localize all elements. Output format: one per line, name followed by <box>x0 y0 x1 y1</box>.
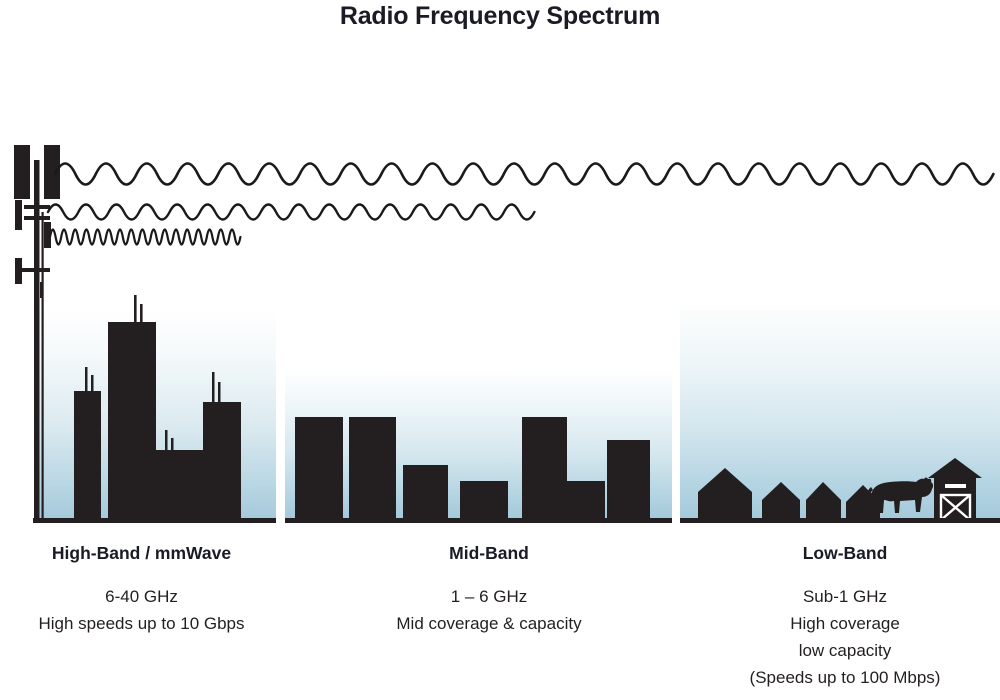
high-band-scene <box>33 295 276 523</box>
building-1 <box>74 391 101 520</box>
mid-building-6 <box>567 481 605 520</box>
antenna-panel-right <box>44 145 60 199</box>
mid-building-3 <box>403 465 448 520</box>
mid-building-2 <box>349 417 396 520</box>
building-spire <box>212 372 215 403</box>
band-column-high-band: High-Band / mmWave 6-40 GHz High speeds … <box>0 543 283 637</box>
band-title-high-band: High-Band / mmWave <box>0 543 283 564</box>
band-description-high-band: High speeds up to 10 Gbps <box>0 610 283 637</box>
building-spire <box>91 375 94 393</box>
building-4 <box>203 402 241 520</box>
antenna-panel-small <box>15 200 22 230</box>
mid-building-4 <box>460 481 508 520</box>
low-band-ground <box>680 518 1000 523</box>
low-band-scene <box>680 310 1000 523</box>
band-column-mid-band: Mid-Band 1 – 6 GHz Mid coverage & capaci… <box>340 543 638 637</box>
mid-band-scene <box>285 368 672 523</box>
mid-band-ground <box>285 518 672 523</box>
antenna-panel-small <box>15 258 22 284</box>
band-column-low-band: Low-Band Sub-1 GHz High coverage low cap… <box>690 543 1000 691</box>
barn-loft-vent <box>945 484 966 488</box>
band-title-mid-band: Mid-Band <box>340 543 638 564</box>
wave-short-wavelength <box>50 230 240 245</box>
antenna-crossarm <box>22 268 50 272</box>
tower-foot <box>40 282 43 298</box>
building-spire <box>165 430 168 452</box>
band-title-low-band: Low-Band <box>690 543 1000 564</box>
high-band-ground <box>33 518 276 523</box>
building-spire <box>218 382 221 403</box>
band-description-low-band-2: low capacity <box>690 637 1000 664</box>
antenna-panel-left <box>14 145 30 199</box>
antenna-crossarm <box>24 216 50 220</box>
building-spire <box>134 295 137 324</box>
band-description-mid-band: Mid coverage & capacity <box>340 610 638 637</box>
wave-long-wavelength <box>55 164 993 185</box>
tower-mast <box>34 160 40 520</box>
band-frequency-mid-band: 1 – 6 GHz <box>340 583 638 610</box>
wave-medium-wavelength <box>48 205 534 220</box>
building-2 <box>108 322 156 520</box>
mid-building-7 <box>607 440 650 520</box>
band-frequency-low-band: Sub-1 GHz <box>690 583 1000 610</box>
band-description-low-band-1: High coverage <box>690 610 1000 637</box>
building-spire <box>171 438 174 452</box>
mid-building-1 <box>295 417 343 520</box>
building-spire <box>140 304 143 324</box>
building-spire <box>85 367 88 393</box>
mid-building-5 <box>522 417 567 520</box>
tower-mast-secondary <box>42 212 44 520</box>
building-3 <box>156 450 203 520</box>
band-labels: High-Band / mmWave 6-40 GHz High speeds … <box>0 543 1000 698</box>
band-frequency-high-band: 6-40 GHz <box>0 583 283 610</box>
antenna-crossarm <box>24 205 50 209</box>
band-speed-low-band: (Speeds up to 100 Mbps) <box>690 664 1000 691</box>
